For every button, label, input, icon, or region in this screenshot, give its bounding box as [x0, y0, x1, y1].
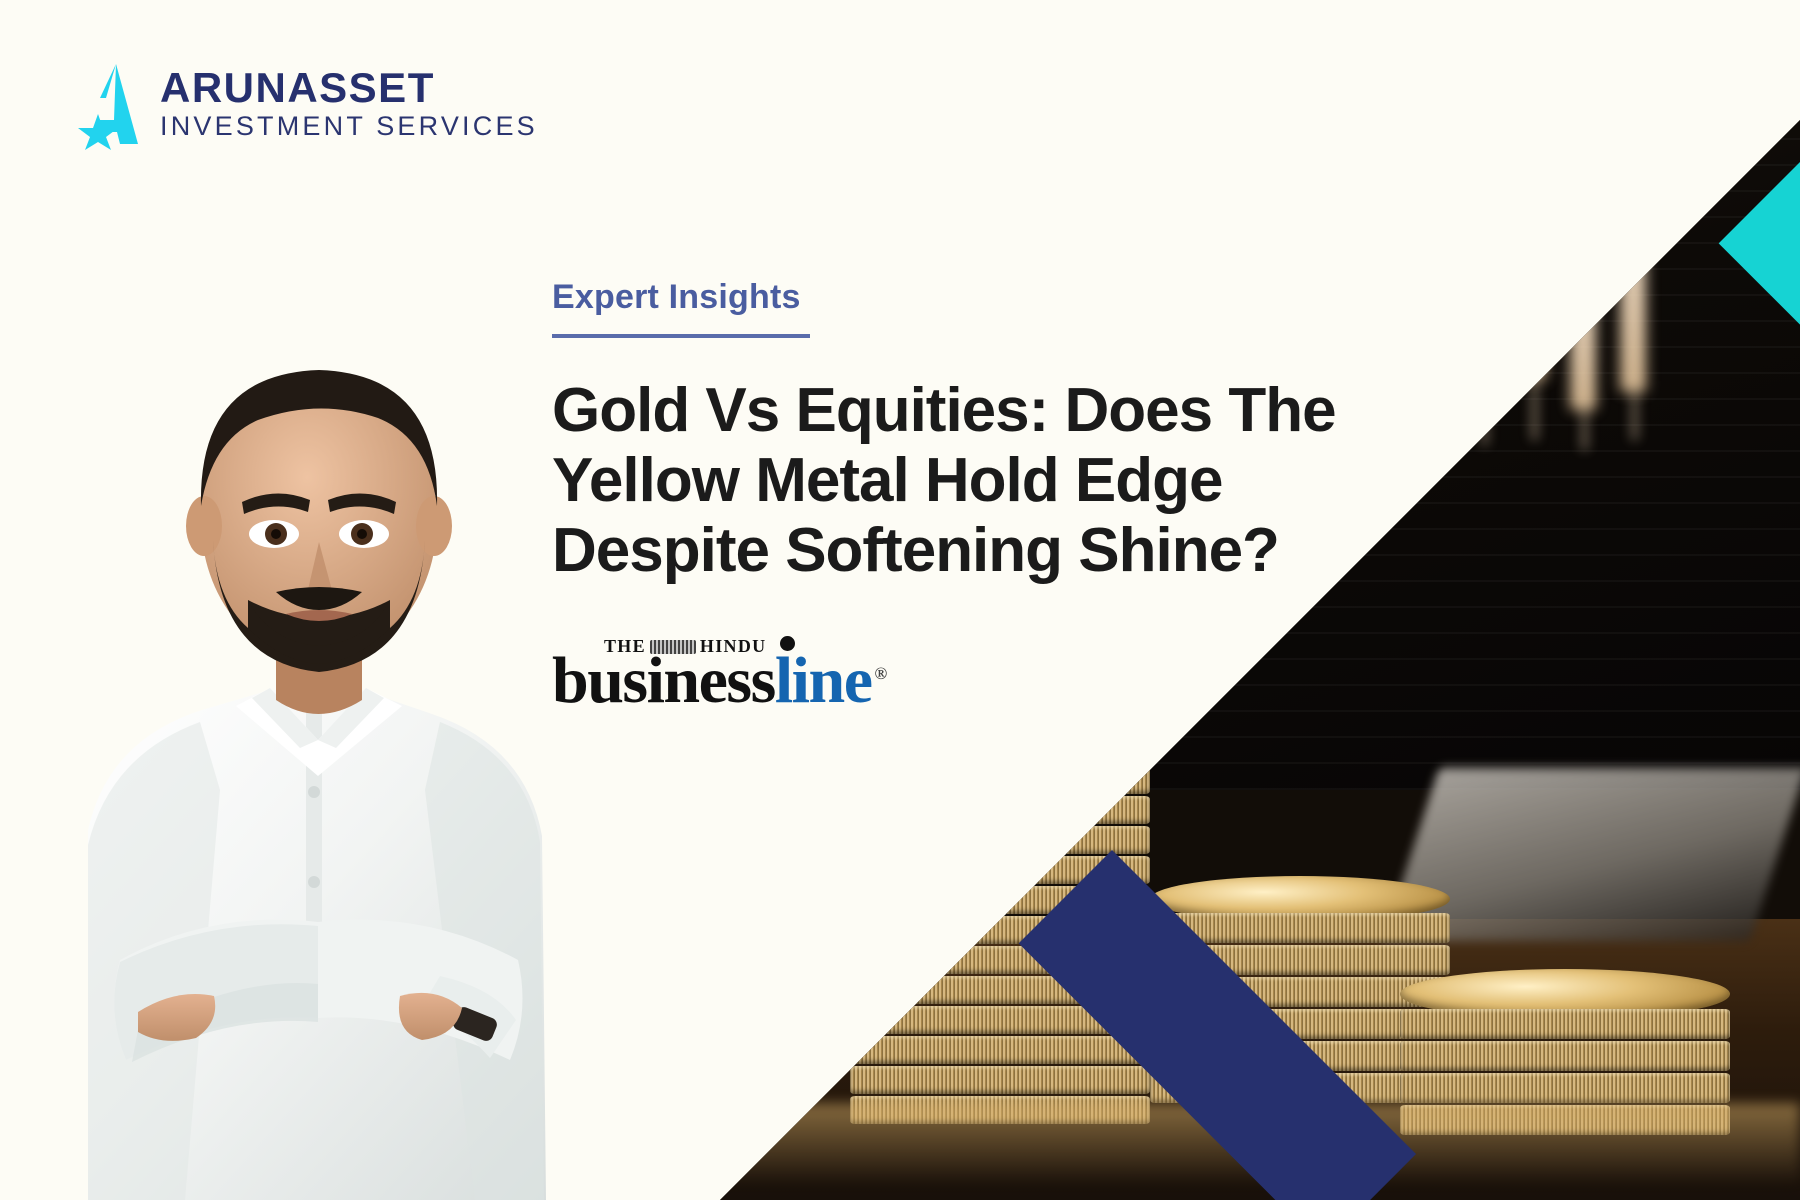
registered-mark-icon: ®	[875, 664, 886, 683]
coin-reflection	[720, 1103, 1800, 1200]
businessline-line: line	[775, 644, 872, 717]
brand-name: ARUNASSET	[160, 66, 538, 111]
coin-stack-tall	[850, 702, 1150, 1124]
eyebrow-underline	[552, 334, 810, 338]
page-title: Gold Vs Equities: Does The Yellow Metal …	[552, 376, 1412, 586]
coin-stack-medium	[1150, 876, 1450, 1103]
arunasset-a-star-logo-icon	[76, 58, 142, 150]
desk-surface	[720, 919, 1800, 1200]
eyebrow-label: Expert Insights	[552, 278, 1452, 317]
accent-band-navy	[1019, 850, 1416, 1200]
accent-band-cyan	[1719, 150, 1800, 1200]
publisher-logo[interactable]: THE HINDU businessline®	[552, 630, 1452, 716]
brand-tagline: INVESTMENT SERVICES	[160, 111, 538, 142]
keyboard-blur	[1383, 768, 1800, 941]
promo-card: ARUNASSET INVESTMENT SERVICES	[0, 0, 1800, 1200]
headline-block: Expert Insights Gold Vs Equities: Does T…	[552, 278, 1452, 716]
brand-logo[interactable]: ARUNASSET INVESTMENT SERVICES	[76, 58, 538, 150]
businessline-business: business	[552, 644, 775, 717]
coin-stack-short	[1400, 969, 1730, 1135]
